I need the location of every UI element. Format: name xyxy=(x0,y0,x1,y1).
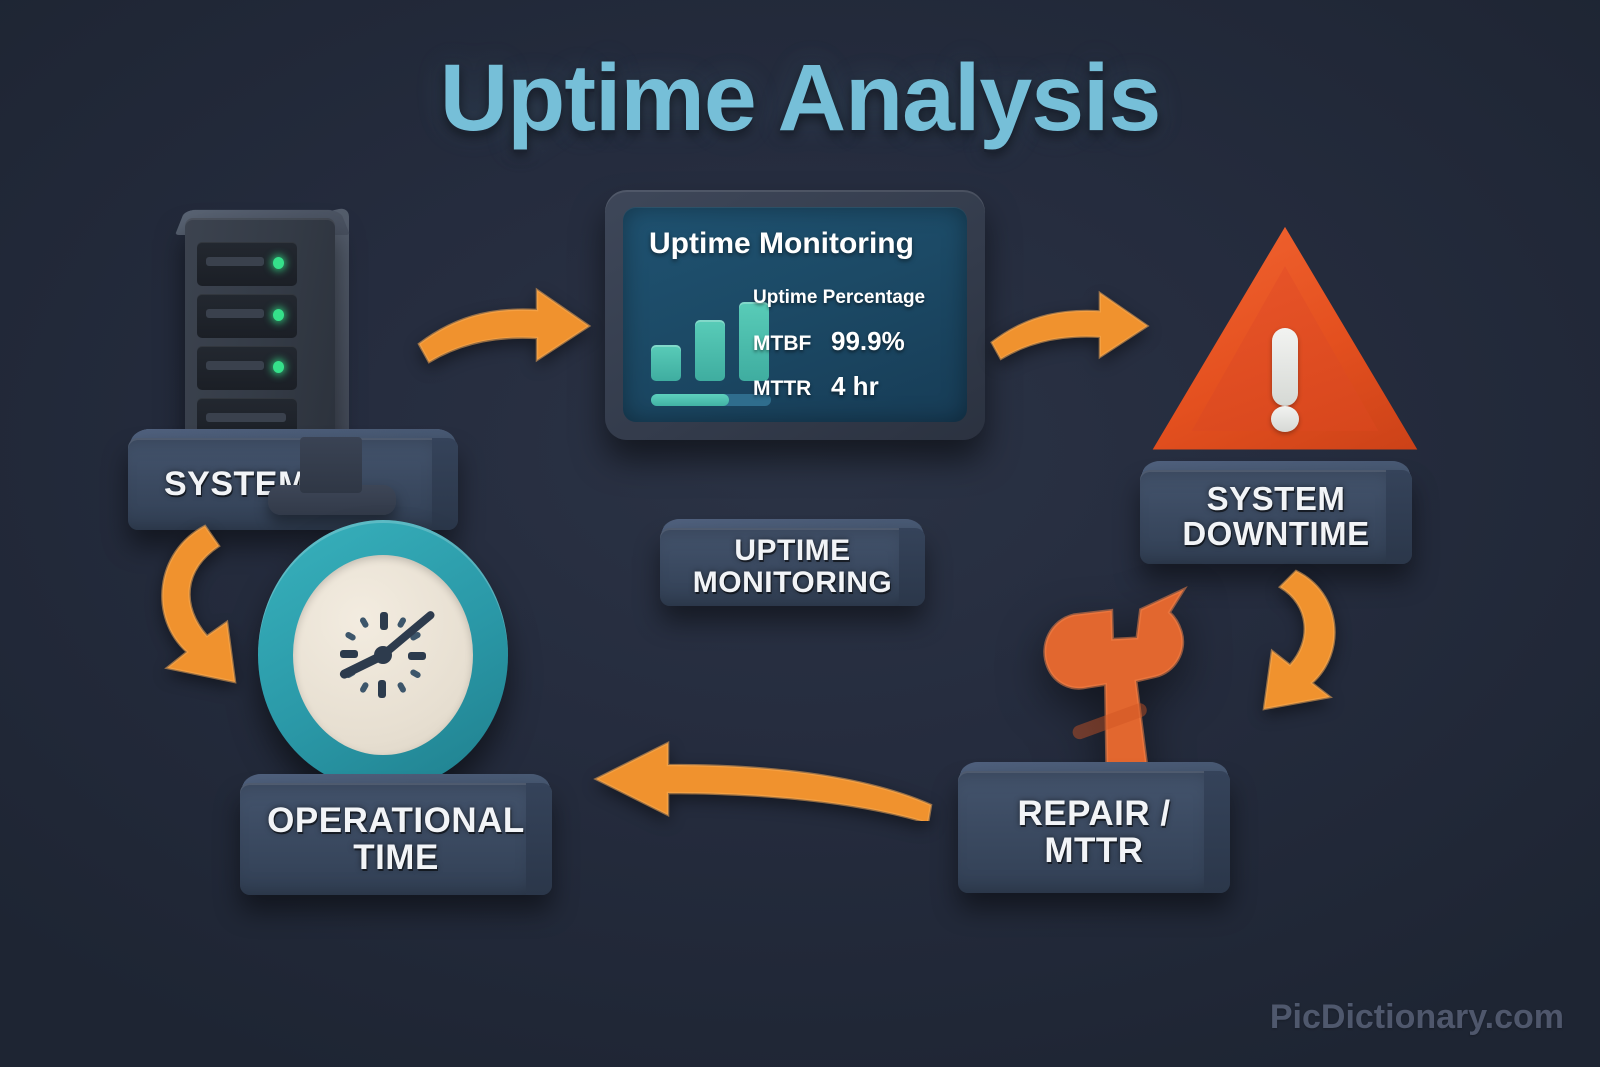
exclamation-stem xyxy=(1272,328,1298,406)
status-led xyxy=(273,257,284,269)
metric-row: MTBF 99.9% xyxy=(753,326,953,357)
node-monitoring-label: UPTIME MONITORING xyxy=(660,528,925,606)
node-downtime-label: SYSTEM DOWNTIME xyxy=(1140,470,1412,564)
node-downtime[interactable]: SYSTEM DOWNTIME xyxy=(1140,452,1412,564)
label-line-1: SYSTEM xyxy=(1207,480,1346,517)
node-operational-time-label: OPERATIONAL TIME xyxy=(240,783,552,895)
chart-bar xyxy=(695,320,725,381)
metric-row: MTTR 4 hr xyxy=(753,371,953,402)
drive-bay xyxy=(197,346,297,390)
node-monitoring[interactable]: UPTIME MONITORING xyxy=(660,510,925,606)
node-repair-label: REPAIR / MTTR xyxy=(958,771,1230,893)
drive-bay xyxy=(197,294,297,338)
status-led xyxy=(273,361,284,373)
page-title: Uptime Analysis xyxy=(0,44,1600,153)
monitor-neck xyxy=(300,437,362,493)
arrow-optime-to-system-icon xyxy=(143,520,263,695)
drive-bay xyxy=(197,242,297,286)
label-line-2: DOWNTIME xyxy=(1182,515,1369,552)
screen-heading: Uptime Monitoring xyxy=(649,227,914,261)
arrow-repair-to-optime-icon xyxy=(590,735,935,821)
label-line-2: MTTR xyxy=(1044,831,1143,870)
warning-triangle-icon xyxy=(1150,222,1420,464)
drive-slot xyxy=(206,309,264,318)
chart-bar xyxy=(651,345,681,381)
metrics-panel: Uptime Percentage MTBF 99.9% MTTR 4 hr xyxy=(753,287,953,416)
clock-icon xyxy=(258,520,508,790)
node-operational-time[interactable]: OPERATIONAL TIME xyxy=(240,765,552,895)
label-line-2: TIME xyxy=(353,838,439,877)
node-system-label: SYSTEM xyxy=(128,438,458,530)
arrow-system-to-monitoring-icon xyxy=(415,282,595,368)
metric-value-mtbf: 99.9% xyxy=(831,326,905,357)
exclamation-dot xyxy=(1271,406,1299,432)
metric-caption: Uptime Percentage xyxy=(753,287,953,309)
label-line-1: REPAIR / xyxy=(1017,794,1170,833)
clock-center-pin xyxy=(374,646,392,664)
monitor-icon: Uptime Monitoring Uptime Percentage MTBF… xyxy=(605,190,985,440)
monitor-screen[interactable]: Uptime Monitoring Uptime Percentage MTBF… xyxy=(623,207,967,422)
label-line-1: OPERATIONAL xyxy=(267,801,525,840)
metric-key-mtbf: MTBF xyxy=(753,332,831,356)
arrow-monitoring-to-downtime-icon xyxy=(988,282,1153,368)
label-line-2: MONITORING xyxy=(693,566,892,599)
drive-slot xyxy=(206,361,264,370)
progress-bar-fill xyxy=(651,394,729,406)
label-line-1: UPTIME xyxy=(734,534,850,567)
watermark: PicDictionary.com xyxy=(1270,998,1564,1037)
metric-key-mttr: MTTR xyxy=(753,377,831,401)
clock-face xyxy=(293,555,473,755)
drive-slot xyxy=(206,257,264,266)
arrow-downtime-to-repair-icon xyxy=(1238,565,1353,715)
status-led xyxy=(273,309,284,321)
node-repair[interactable]: REPAIR / MTTR xyxy=(958,753,1230,893)
metric-value-mttr: 4 hr xyxy=(831,371,879,402)
